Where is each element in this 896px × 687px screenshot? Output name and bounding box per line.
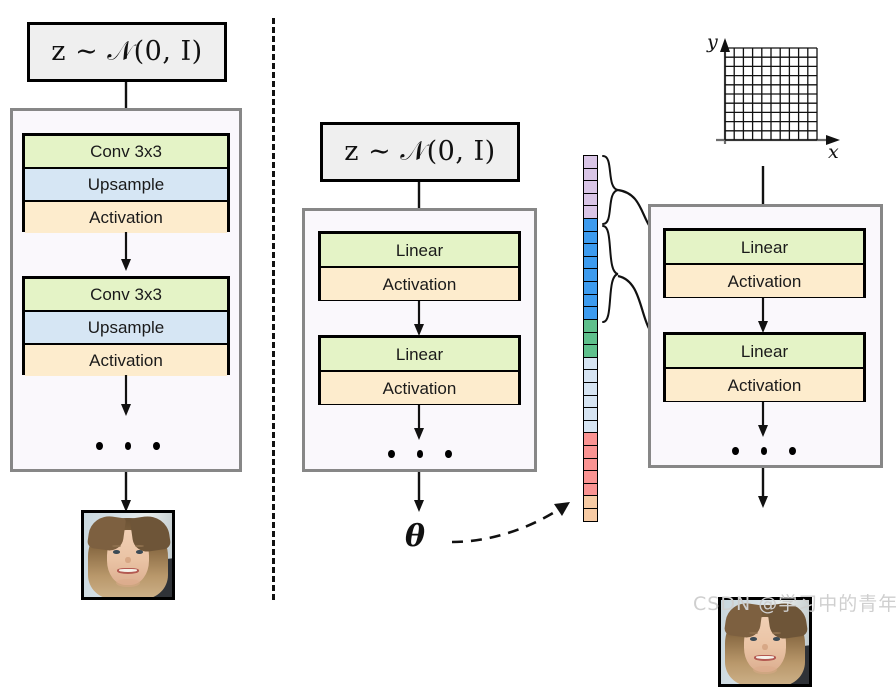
middle-ellipsis: [388, 449, 452, 459]
right-arrow-panel-to-image: [755, 468, 775, 510]
left-block-1-layer-2-label: Activation: [89, 209, 163, 226]
photo-teeth: [756, 656, 774, 659]
photo-chin: [753, 666, 778, 674]
left-block-2-layer-0-label: Conv 3x3: [90, 286, 162, 303]
right-arrow-block2-ellipsis: [755, 402, 775, 440]
middle-block-2-layer-0-label: Linear: [396, 346, 443, 363]
grid-svg: [706, 28, 846, 168]
photo-teeth: [119, 569, 137, 572]
photo-nose: [125, 557, 130, 564]
middle-arrow-panel-to-theta: [411, 472, 431, 514]
middle-block-2-layer-0: Linear: [321, 338, 518, 372]
left-block-2-layer-1: Upsample: [25, 312, 227, 345]
theta-to-vector-dashed-arrow: [448, 480, 588, 550]
right-block-2-layer-1-label: Activation: [728, 377, 802, 394]
middle-block-2-layer-1-label: Activation: [383, 380, 457, 397]
left-output-face-image: [81, 510, 175, 600]
vector-cell: [583, 508, 598, 522]
left-ellipsis: [96, 441, 160, 451]
photo-eye-right: [136, 550, 143, 554]
middle-block-1-layer-1: Activation: [321, 268, 518, 300]
right-block-1-layer-1: Activation: [666, 265, 863, 297]
xy-coordinate-grid: y x: [706, 28, 846, 168]
photo-eye-left: [113, 550, 120, 554]
middle-block-1-layer-0: Linear: [321, 234, 518, 268]
middle-arrow-block2-ellipsis: [411, 405, 431, 443]
right-block-2-layer-1: Activation: [666, 369, 863, 401]
left-block-2-layer-2-label: Activation: [89, 352, 163, 369]
middle-latent-label: z ∼ 𝒩(0, I): [344, 136, 495, 168]
middle-block-1-layer-0-label: Linear: [396, 242, 443, 259]
middle-block-2: Linear Activation: [318, 335, 521, 405]
right-block-2: Linear Activation: [663, 332, 866, 402]
photo-eye-left: [750, 637, 757, 641]
left-block-1-layer-2: Activation: [25, 202, 227, 233]
photo-nose: [762, 644, 767, 651]
photo-brow-right: [772, 632, 781, 634]
middle-block-1: Linear Activation: [318, 231, 521, 301]
left-block-1: Conv 3x3 Upsample Activation: [22, 133, 230, 232]
left-block-1-layer-0-label: Conv 3x3: [90, 143, 162, 160]
left-block-2-layer-0: Conv 3x3: [25, 279, 227, 312]
csdn-watermark: CSDN @学习中的青年: [693, 589, 896, 616]
left-arrow-block1-block2: [118, 232, 138, 274]
right-ellipsis: [732, 446, 796, 456]
left-block-2-layer-2: Activation: [25, 345, 227, 376]
left-latent-label: z ∼ 𝒩(0, I): [51, 36, 202, 68]
left-arrow-panel-to-image: [118, 472, 138, 514]
right-block-1-layer-0-label: Linear: [741, 239, 788, 256]
middle-block-1-layer-1-label: Activation: [383, 276, 457, 293]
right-block-1: Linear Activation: [663, 228, 866, 298]
right-block-2-layer-0-label: Linear: [741, 343, 788, 360]
middle-arrow-block1-block2: [411, 301, 431, 339]
photo-brow-left: [749, 632, 758, 634]
theta-symbol: θ: [405, 519, 425, 554]
photo-brow-right: [135, 545, 144, 547]
right-block-1-layer-0: Linear: [666, 231, 863, 265]
left-arrow-block2-ellipsis: [118, 375, 138, 419]
vertical-divider: [272, 18, 275, 600]
middle-latent-box: z ∼ 𝒩(0, I): [320, 122, 520, 182]
parameter-vector: [583, 155, 598, 522]
right-arrow-block1-block2: [755, 298, 775, 336]
grid-x-axis-label: x: [828, 141, 839, 163]
middle-block-2-layer-1: Activation: [321, 372, 518, 404]
photo-brow-left: [112, 545, 121, 547]
left-block-1-layer-0: Conv 3x3: [25, 136, 227, 169]
photo-chin: [116, 579, 141, 587]
left-block-1-layer-1-label: Upsample: [88, 176, 165, 193]
grid-y-axis-label: y: [707, 31, 718, 53]
figure-canvas: z ∼ 𝒩(0, I) Conv 3x3 Upsample Activation…: [0, 0, 896, 621]
left-block-2: Conv 3x3 Upsample Activation: [22, 276, 230, 375]
photo-eye-right: [773, 637, 780, 641]
right-block-1-layer-1-label: Activation: [728, 273, 802, 290]
left-block-1-layer-1: Upsample: [25, 169, 227, 202]
right-block-2-layer-0: Linear: [666, 335, 863, 369]
left-latent-box: z ∼ 𝒩(0, I): [27, 22, 227, 82]
left-block-2-layer-1-label: Upsample: [88, 319, 165, 336]
